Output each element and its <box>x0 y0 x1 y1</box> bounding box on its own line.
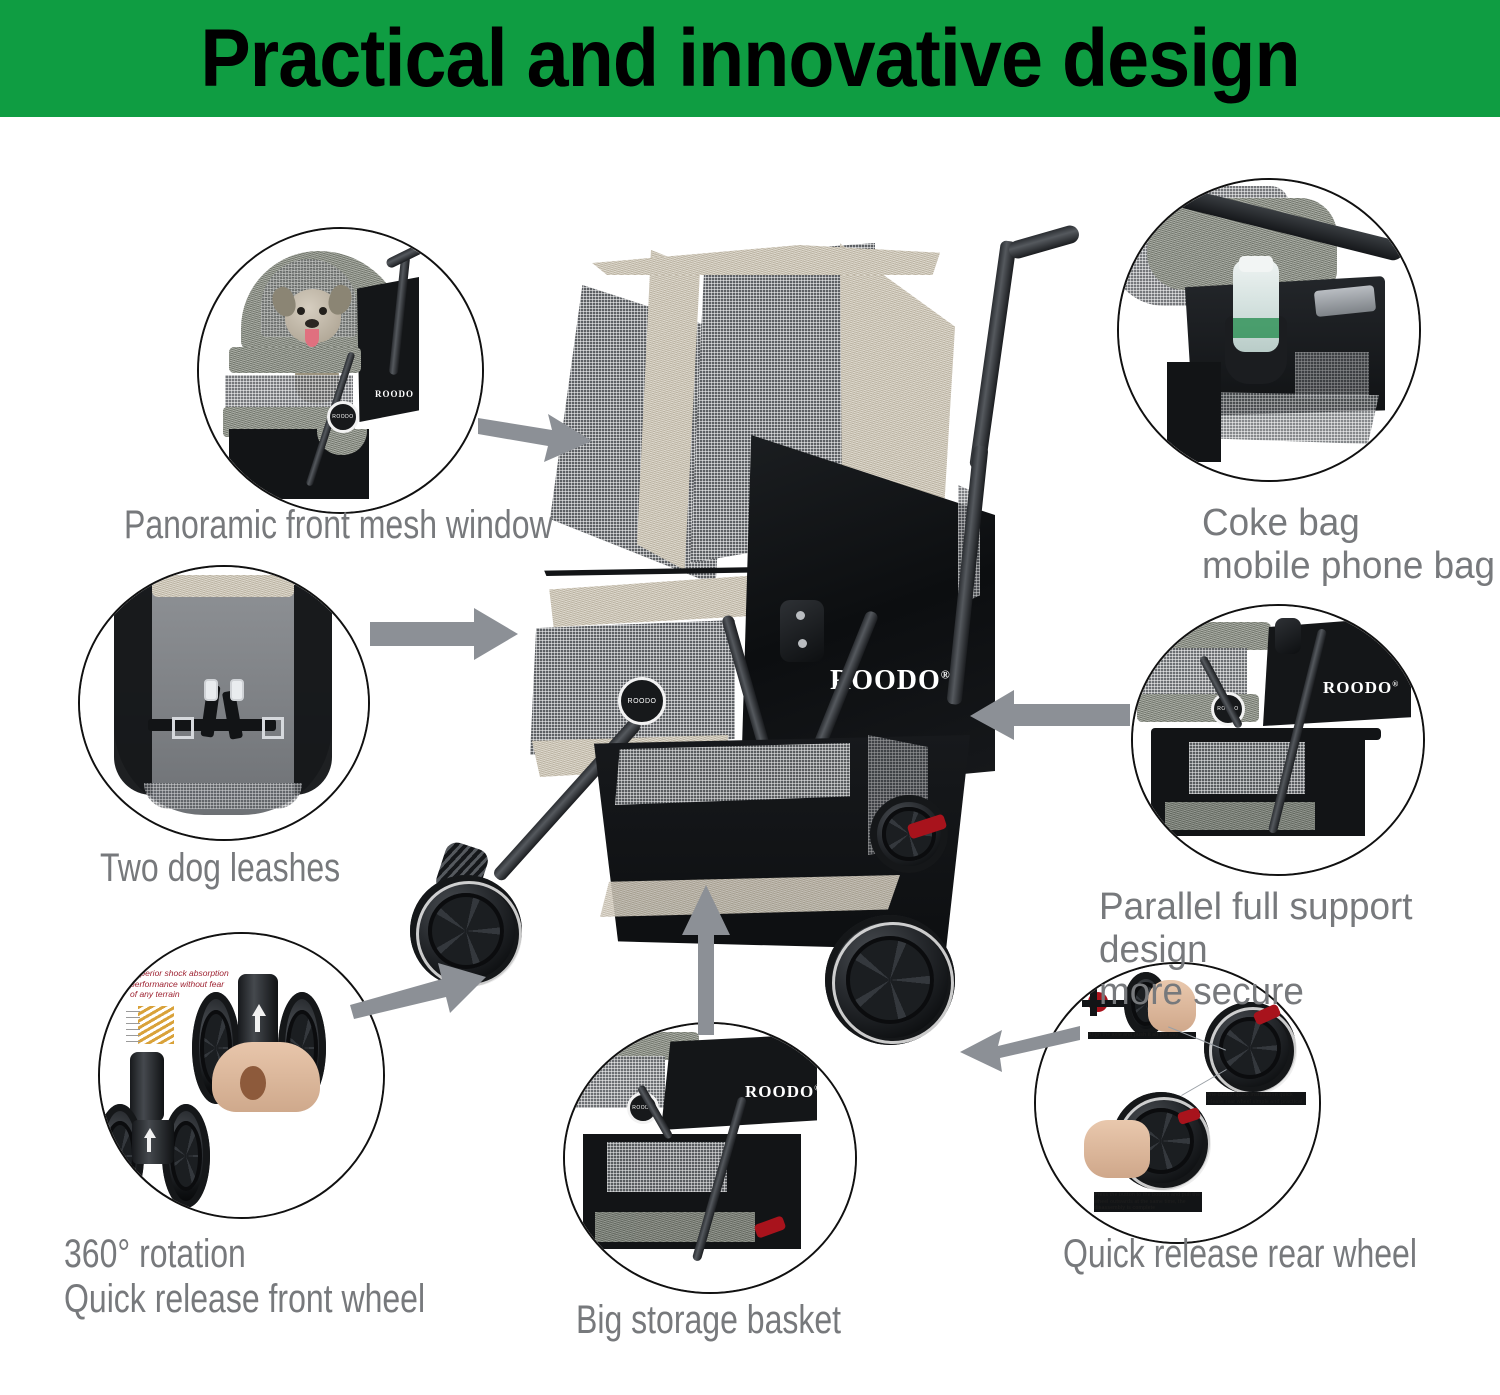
arrow-to-canopy <box>478 408 596 470</box>
inset5-water-bottle <box>1233 260 1279 352</box>
canopy-top-edge <box>570 245 940 275</box>
inset-panoramic-front-mesh-window: ROODO <box>197 227 484 514</box>
inset6-brand-wordmark: ROODO® <box>1323 678 1399 698</box>
arrow-to-cabin <box>370 608 520 662</box>
arrow-to-rear-wheel <box>960 1018 1080 1080</box>
inset3-axle-arrow-stem-2 <box>147 1138 151 1152</box>
inset3-axle-arrow-up-2 <box>144 1128 156 1138</box>
inset3-spring-icon <box>138 1006 174 1044</box>
inset3-hand-thumb <box>240 1066 266 1100</box>
badge-text: ROODO <box>628 698 657 705</box>
inset2-strap-buckle <box>172 717 194 739</box>
inset2-side-wall-right <box>294 585 332 795</box>
arrow-to-rear-panel <box>968 690 1130 742</box>
inset3-axle-arrow-up <box>252 1004 266 1016</box>
inset3-axle-arrow-stem <box>255 1016 260 1032</box>
inset1-rear-body <box>357 277 419 422</box>
inset4-basket-mesh <box>607 1142 727 1192</box>
inset2-leash-clip-left <box>204 679 218 701</box>
frame-handle-bar <box>1007 223 1081 260</box>
storage-basket-mesh-upper <box>615 743 850 805</box>
inset7-axle-bracket <box>1090 984 1097 1016</box>
inset1-roodo-badge: ROODO <box>327 401 359 433</box>
label-quick-release-rear-wheel: Quick release rear wheel <box>1063 1232 1479 1277</box>
inset1-front-bar <box>229 347 361 373</box>
inset7-wheel-step2-rim <box>1209 1007 1297 1095</box>
inset7-hand-step3 <box>1084 1120 1150 1178</box>
inset4-basket-bottom-band <box>595 1212 755 1242</box>
frame-tube-handle-upper <box>969 240 1017 470</box>
inset5-bottle-label <box>1233 318 1279 338</box>
hinge-rivet-top <box>796 611 805 620</box>
hinge-rivet-bottom <box>798 639 807 648</box>
label-360-rotation-quick-release-front-wheel: 360° rotation Quick release front wheel <box>64 1232 560 1322</box>
inset2-side-wall-left <box>114 585 152 795</box>
inset5-organizer-mesh-pocket <box>1295 352 1369 398</box>
header-banner: Practical and innovative design <box>0 0 1500 117</box>
inset5-lower-body <box>1167 362 1221 462</box>
label-parallel-full-support-design: Parallel full support design more secure <box>1099 886 1500 1014</box>
inset1-brand-wordmark: ROODO <box>375 389 414 399</box>
inset6-cabin-mesh <box>1139 648 1247 696</box>
inset6-hinge-plate <box>1275 618 1301 654</box>
label-big-storage-basket: Big storage basket <box>576 1298 960 1343</box>
inset4-brand-wordmark: ROODO® <box>745 1082 821 1102</box>
inset3-axle-bridge <box>132 1120 174 1164</box>
inset7-note-3: Press the button to the bottom and pull … <box>1094 1192 1202 1212</box>
inset3-axle-post-bottom <box>130 1052 164 1122</box>
inset2-floor-mesh <box>144 783 302 809</box>
inset6-basket-bottom-band <box>1165 802 1315 830</box>
infographic-page: Practical and innovative design ROODO® <box>0 0 1500 1395</box>
arrow-to-basket <box>678 885 734 1035</box>
inset2-strap-buckle-right <box>262 717 284 739</box>
inset-coke-bag-phone-bag <box>1117 178 1421 482</box>
page-title: Practical and innovative design <box>60 0 1440 117</box>
label-panoramic-front-mesh-window: Panoramic front mesh window <box>124 503 604 548</box>
inset7-note-2: One-button quick installation quick rele… <box>1206 1092 1306 1105</box>
inset3-hand-top <box>212 1042 320 1112</box>
inset5-bottle-cap <box>1239 256 1273 272</box>
inset7-note-1: Align the axle and push it all the way <box>1088 1032 1196 1039</box>
frame-hinge-plate <box>780 600 824 662</box>
arrow-to-front-wheel <box>350 955 490 1021</box>
inset3-spring-lines <box>126 1008 140 1042</box>
roodo-logo-badge-main: ROODO <box>618 677 666 725</box>
inset6-cabin-top-trim <box>1141 622 1271 650</box>
label-coke-bag-mobile-phone-bag: Coke bag mobile phone bag <box>1202 502 1500 587</box>
label-two-dog-leashes: Two dog leashes <box>100 846 500 891</box>
inset-360-rotation-front-wheel: Superior shock absorption performance wi… <box>98 932 385 1219</box>
inset-two-dog-leashes <box>78 565 370 841</box>
inset-parallel-full-support: ROODO® ROODO <box>1131 604 1425 876</box>
inset2-canopy-edge <box>152 575 294 597</box>
canopy-zipper <box>542 567 762 576</box>
inset-big-storage-basket: ROODO® ROODO <box>563 1022 857 1294</box>
inset2-leash-clip-right <box>230 679 244 701</box>
